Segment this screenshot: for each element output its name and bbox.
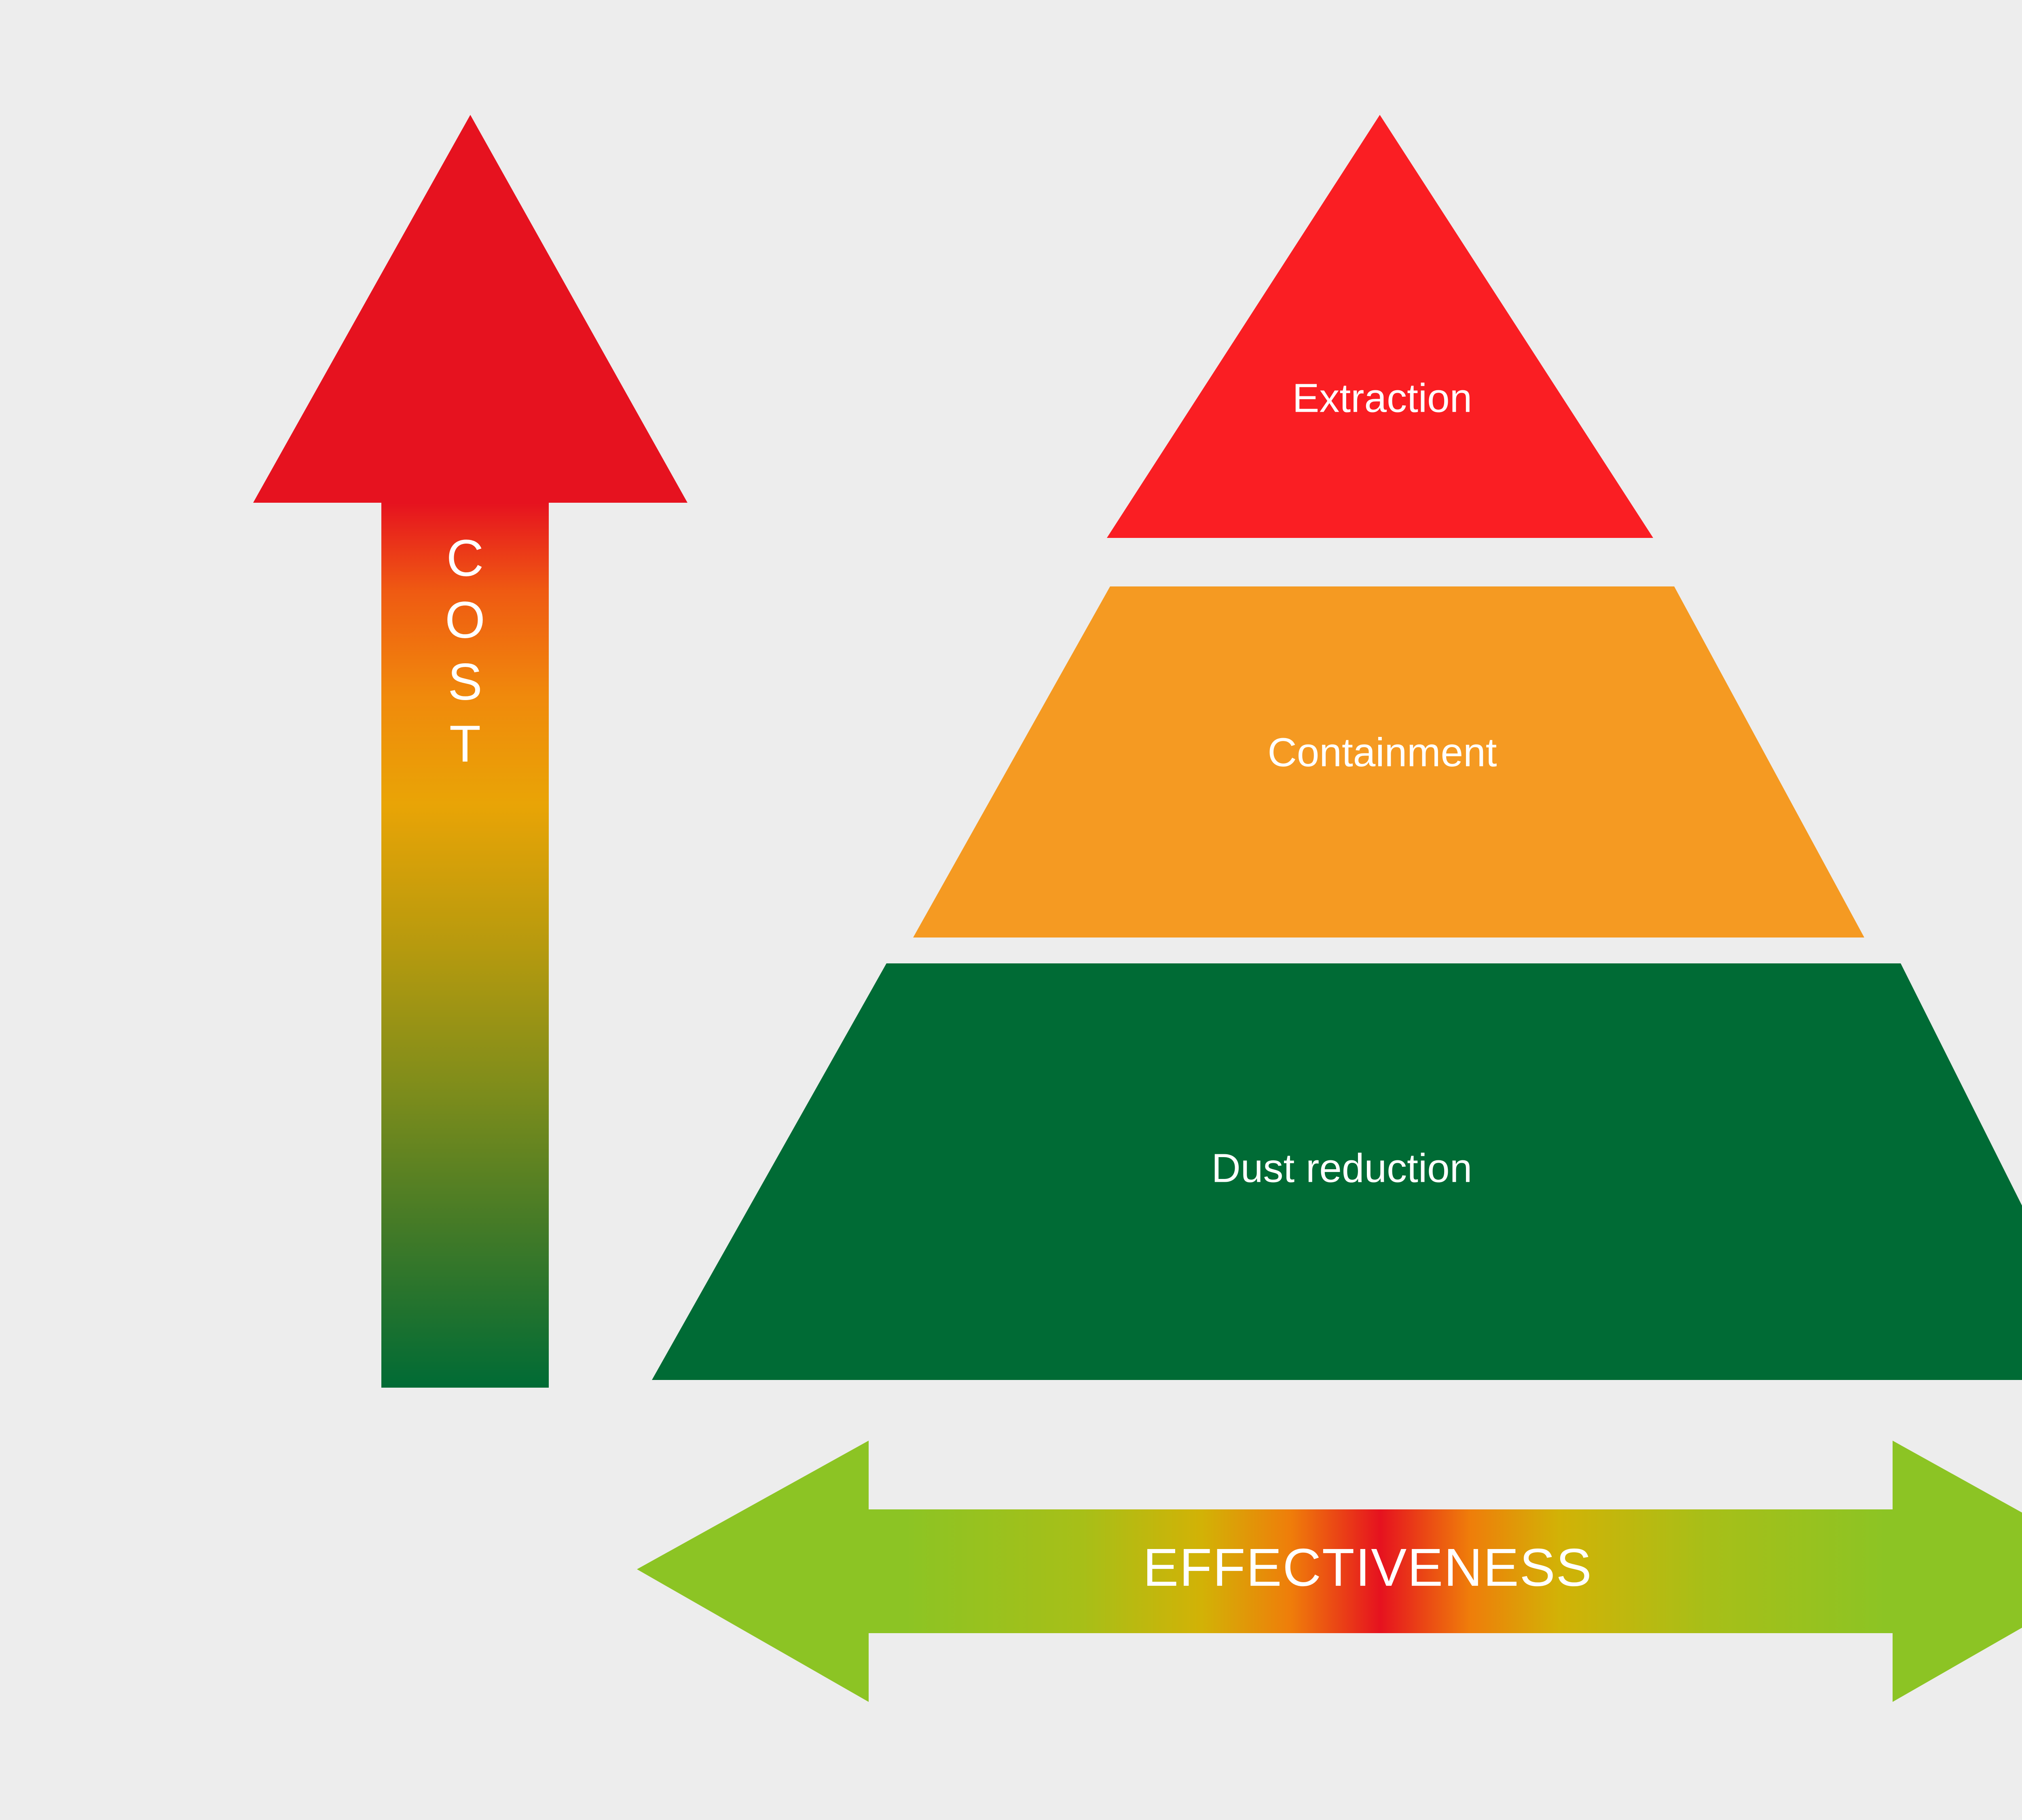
pyramid-tier-extraction[interactable]: Extraction bbox=[1107, 115, 1653, 538]
extraction-shape[interactable] bbox=[1107, 115, 1653, 538]
diagram-canvas: C O S T Extraction Containment Dust redu… bbox=[0, 0, 2022, 1820]
dust-reduction-label: Dust reduction bbox=[1212, 1145, 1472, 1191]
cost-arrow: C O S T bbox=[253, 115, 687, 1388]
cost-letter-s: S bbox=[448, 653, 482, 711]
hierarchy-diagram: C O S T Extraction Containment Dust redu… bbox=[0, 0, 2022, 1820]
cost-letter-c: C bbox=[446, 529, 484, 587]
effectiveness-arrow: EFFECTIVENESS bbox=[637, 1441, 2022, 1702]
extraction-label: Extraction bbox=[1292, 375, 1472, 421]
cost-arrow-head bbox=[253, 115, 687, 503]
pyramid-tier-containment[interactable]: Containment bbox=[913, 586, 1864, 938]
cost-letter-o: O bbox=[445, 591, 485, 649]
pyramid-tier-dust-reduction[interactable]: Dust reduction bbox=[652, 963, 2022, 1380]
cost-letter-t: T bbox=[449, 715, 481, 773]
effectiveness-label: EFFECTIVENESS bbox=[1143, 1538, 1593, 1597]
containment-label: Containment bbox=[1268, 730, 1497, 775]
